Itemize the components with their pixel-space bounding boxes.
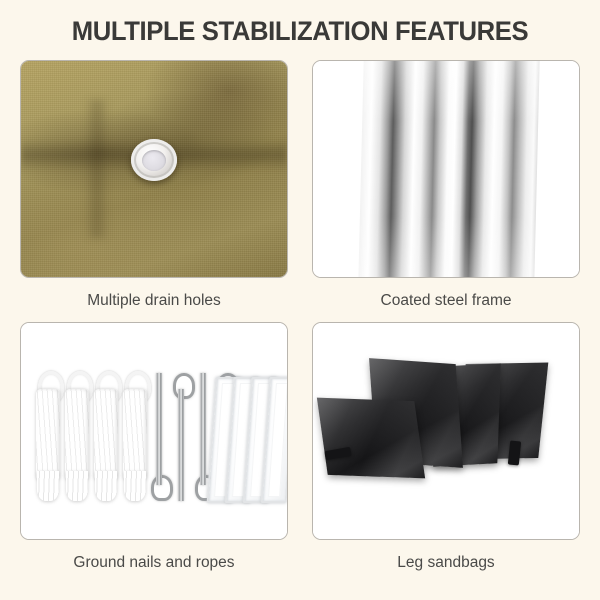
feature-image-drain-holes — [20, 60, 288, 278]
steel-poles-sheen — [313, 61, 579, 277]
feature-grid: Multiple drain holes Coated steel frame — [20, 60, 580, 585]
rope-tails — [66, 471, 88, 501]
page-title: MULTIPLE STABILIZATION FEATURES — [15, 14, 585, 48]
sandbag-sheen — [317, 398, 425, 479]
sandbag — [317, 398, 425, 479]
frame-bar-inner — [268, 383, 288, 497]
rope-bundle — [64, 371, 90, 497]
ground-stake — [173, 373, 189, 501]
stake-loop-ring — [151, 475, 173, 501]
ground-stake — [151, 373, 167, 501]
rope-tails — [37, 471, 59, 501]
feature-image-steel-frame — [312, 60, 580, 278]
stake-shaft — [178, 389, 184, 501]
rope-bundle — [122, 371, 148, 497]
feature-cell-leg-sandbags: Leg sandbags — [312, 322, 580, 580]
feature-caption-steel-frame: Coated steel frame — [381, 291, 512, 311]
rope-tails — [124, 471, 146, 501]
feature-cell-drain-holes: Multiple drain holes — [20, 60, 288, 318]
rope-coil — [36, 389, 60, 481]
stake-shaft — [200, 373, 206, 485]
stake-shaft — [156, 373, 162, 485]
feature-caption-nails-ropes: Ground nails and ropes — [73, 553, 234, 573]
feature-caption-leg-sandbags: Leg sandbags — [397, 553, 494, 573]
rope-coil — [65, 389, 89, 481]
feature-image-nails-ropes — [20, 322, 288, 540]
rope-coil — [123, 389, 147, 481]
fabric-seam-vertical — [85, 100, 109, 238]
feature-image-leg-sandbags — [312, 322, 580, 540]
feature-infographic: MULTIPLE STABILIZATION FEATURES Multiple… — [0, 0, 600, 600]
feature-cell-steel-frame: Coated steel frame — [312, 60, 580, 318]
rope-bundle — [35, 371, 61, 497]
grommet-inner-ring — [142, 150, 166, 171]
rope-coil — [94, 389, 118, 481]
rope-tails — [95, 471, 117, 501]
stake-loop-ring — [173, 373, 195, 399]
feature-cell-nails-ropes: Ground nails and ropes — [20, 322, 288, 580]
rope-bundle — [93, 371, 119, 497]
feature-caption-drain-holes: Multiple drain holes — [87, 291, 221, 311]
